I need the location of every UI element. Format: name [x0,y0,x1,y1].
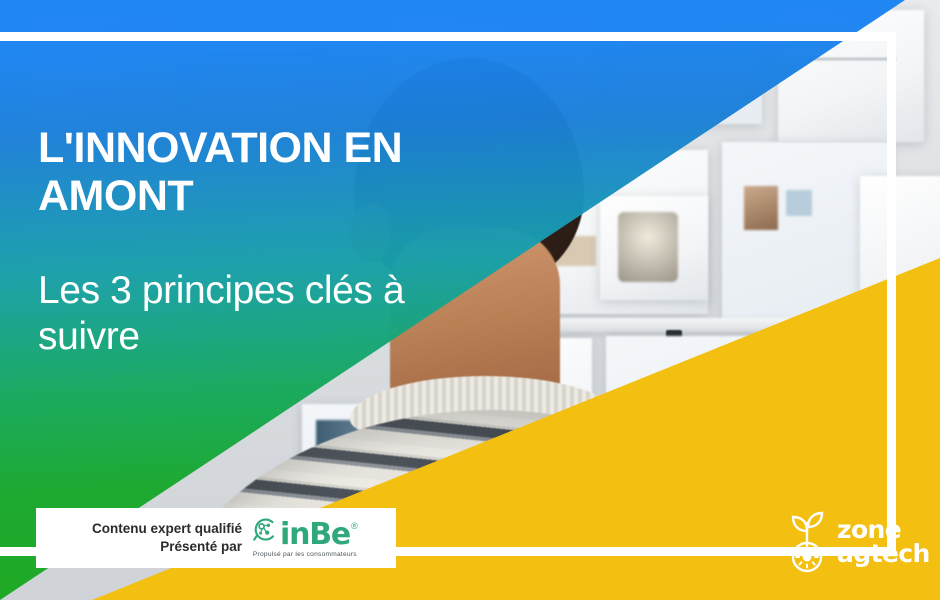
inbe-molecule-icon [252,518,278,547]
zone-agtech-wordmark: zone agtech [837,518,930,566]
inbe-tagline: Propulsé par les consommateurs [253,551,357,558]
credit-text: Contenu expert qualifié Présenté par [36,520,252,556]
zone-agtech-logo[interactable]: zone agtech [781,503,929,581]
inbe-logo[interactable]: inBe ® Propulsé par les consommateurs [252,518,358,558]
page-subtitle: Les 3 principes clés à suivre [38,268,468,360]
frame-right-line [887,32,896,556]
frame-top-line [0,32,896,41]
promo-banner: L'INNOVATION EN AMONT Les 3 principes cl… [0,0,940,600]
credit-line-1: Contenu expert qualifié [36,520,242,538]
registered-mark: ® [351,522,358,531]
page-title: L'INNOVATION EN AMONT [38,124,458,220]
sprout-seed-icon [781,511,833,573]
brand-line-2: agtech [837,542,930,566]
credit-line-2: Présenté par [36,538,242,556]
inbe-wordmark: inBe [280,521,350,549]
credit-bar: Contenu expert qualifié Présenté par i [36,508,396,568]
